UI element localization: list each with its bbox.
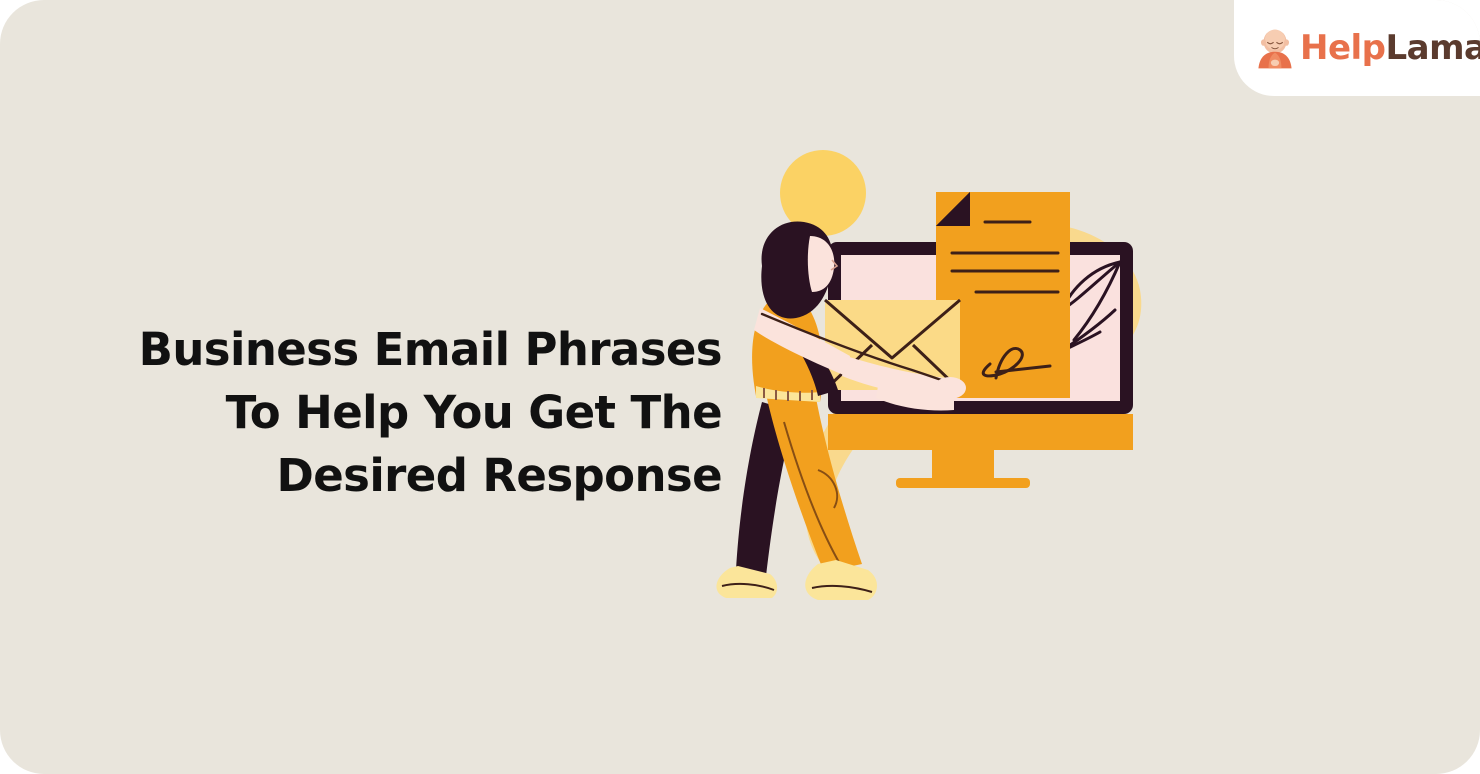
headline-line-2: To Help You Get The: [60, 381, 722, 444]
headline-line-3: Desired Response: [60, 444, 722, 507]
page-title: Business Email Phrases To Help You Get T…: [60, 318, 722, 507]
lama-monk-icon: [1252, 26, 1298, 72]
woman-sending-email-illustration: [700, 140, 1200, 640]
logo-text-lama: Lama: [1386, 28, 1480, 68]
logo-wordmark: HelpLama: [1300, 31, 1480, 65]
headline-line-1: Business Email Phrases: [60, 318, 722, 381]
blog-banner: HelpLama Business Email Phrases To Help …: [0, 0, 1480, 774]
logo-text-help: Help: [1300, 28, 1386, 68]
helplama-logo[interactable]: HelpLama: [1234, 0, 1480, 96]
